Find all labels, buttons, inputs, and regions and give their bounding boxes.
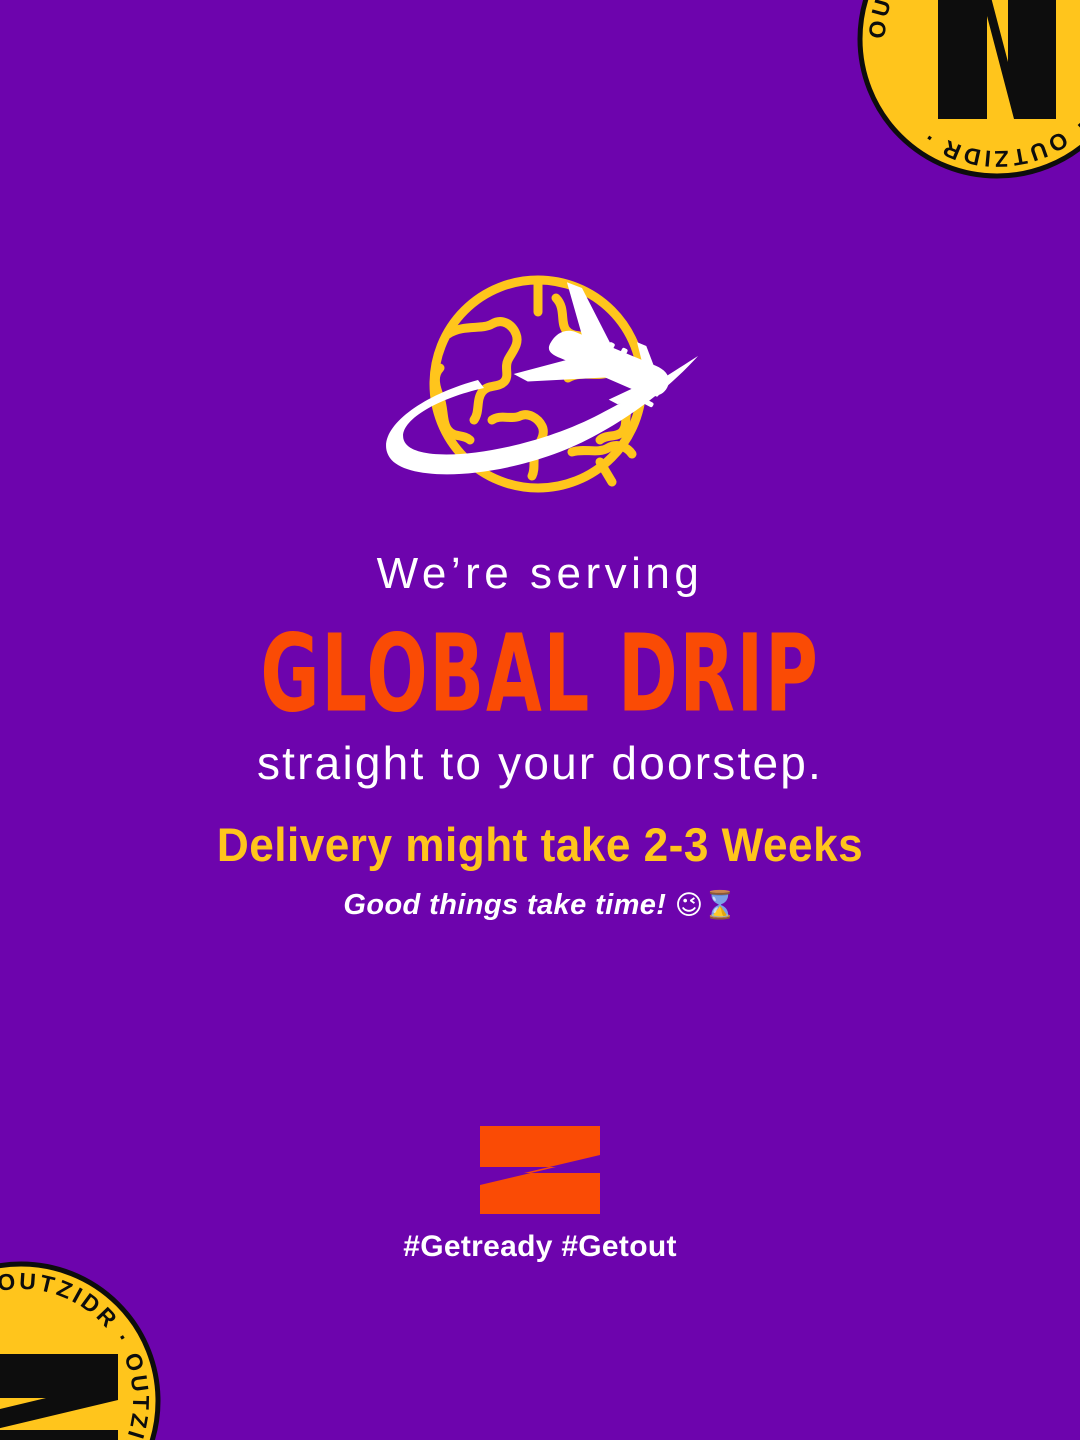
- poster-canvas: OUTZIDR · OUTZIDR · OUTZIDR · OUTZIDR · …: [0, 0, 1080, 1440]
- delivery-subtext-label: Good things take time!: [343, 889, 666, 921]
- headline-main: GLOBAL DRIP: [97, 618, 983, 731]
- footer-group: #Getready #Getout: [0, 1124, 1080, 1264]
- delivery-subtext: Good things take time! 😉⌛: [0, 888, 1080, 923]
- headline-tail: straight to your doorstep.: [0, 736, 1080, 791]
- delivery-emoji-pair: 😉⌛: [675, 890, 737, 921]
- headline-group: We’re serving GLOBAL DRIP straight to yo…: [0, 548, 1080, 791]
- badge-sticker-bottom-left: OUTZIDR · OUTZIDR · OUTZIDR · OUTZIDR · …: [0, 1260, 162, 1440]
- delivery-headline: Delivery might take 2-3 Weeks: [32, 818, 1047, 872]
- hashtags-text: #Getready #Getout: [0, 1230, 1080, 1264]
- outzidr-z-logo: [478, 1124, 602, 1216]
- headline-kicker: We’re serving: [0, 548, 1080, 600]
- delivery-note-group: Delivery might take 2-3 Weeks Good thing…: [0, 818, 1080, 923]
- z-logo-shape: [480, 1126, 600, 1214]
- badge-sticker-top-right: OUTZIDR · OUTZIDR · OUTZIDR · OUTZIDR ·: [856, 0, 1080, 180]
- globe-airplane-icon: [360, 272, 720, 507]
